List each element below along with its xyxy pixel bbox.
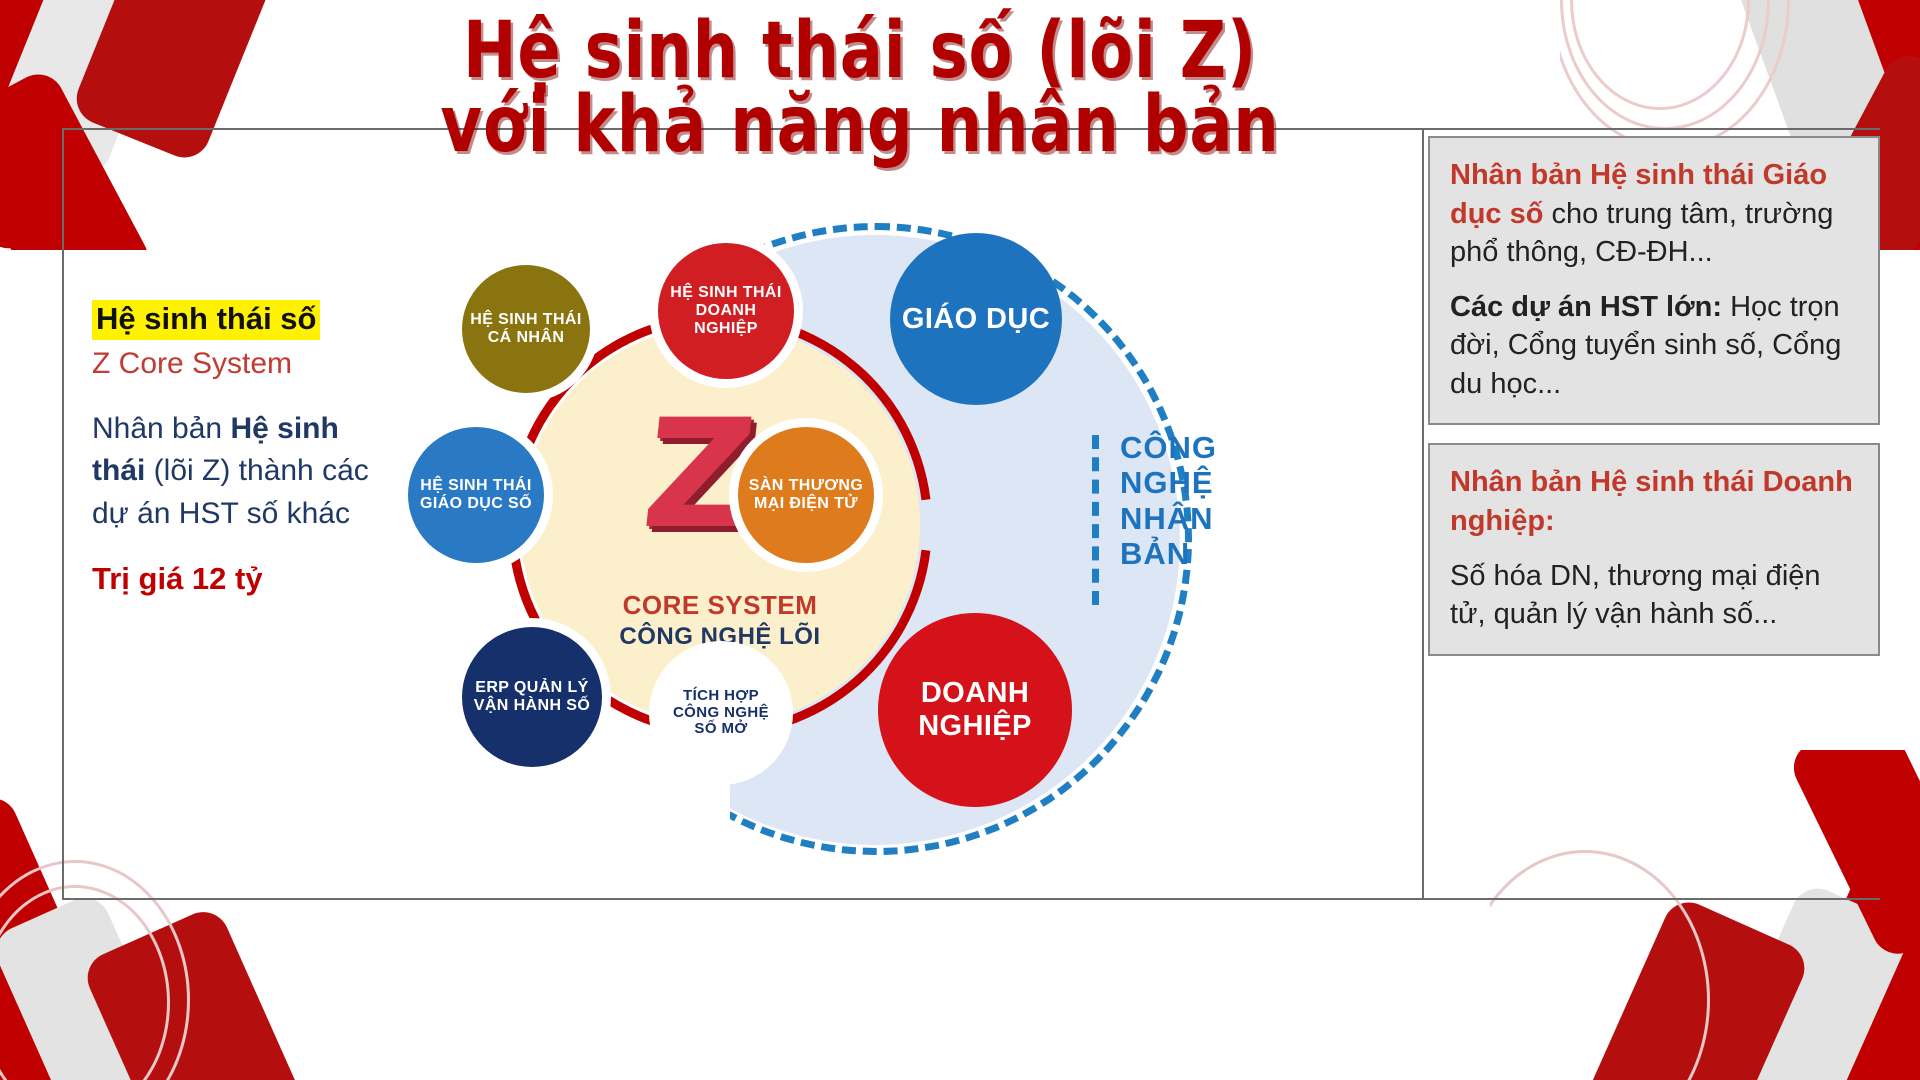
panel1-body: Các dự án HST lớn: Học trọn đời, Cổng tu… bbox=[1450, 288, 1858, 404]
decor-arc bbox=[0, 860, 190, 1080]
decor-bar-grey bbox=[1666, 880, 1914, 1080]
core-label-english: CORE SYSTEM bbox=[590, 590, 850, 621]
corner-decoration-bottom-right bbox=[1490, 750, 1920, 1080]
left-highlight-text: Hệ sinh thái số bbox=[92, 300, 320, 340]
decor-bar bbox=[1537, 894, 1812, 1080]
page-title: Hệ sinh thái số (lõi Z) với khả năng nhâ… bbox=[425, 14, 1294, 162]
node-label: SÀN THƯƠNG MẠI ĐIỆN TỬ bbox=[738, 477, 874, 513]
panel2-body: Số hóa DN, thương mại điện tử, quản lý v… bbox=[1450, 557, 1858, 634]
node-label: HỆ SINH THÁI DOANH NGHIỆP bbox=[658, 284, 794, 338]
left-subtitle: Z Core System bbox=[92, 346, 392, 382]
replication-dashed-line bbox=[1092, 435, 1099, 605]
title-line-2: với khả năng nhân bản bbox=[425, 88, 1294, 162]
frame-bottom-rule bbox=[62, 898, 1880, 900]
decor-arc bbox=[1560, 0, 1770, 130]
corner-decoration-bottom-left bbox=[0, 750, 330, 1080]
left-highlight-wrap: Hệ sinh thái số bbox=[92, 300, 392, 340]
decor-bar-grey bbox=[0, 0, 212, 182]
node-label: HỆ SINH THÁI GIÁO DỤC SỐ bbox=[408, 477, 544, 513]
node-he-sinh-thai-giao-duc-so[interactable]: HỆ SINH THÁI GIÁO DỤC SỐ bbox=[408, 427, 544, 563]
decor-arc bbox=[1490, 850, 1710, 1080]
left-body-paragraph: Nhân bản Hệ sinh thái (lõi Z) thành các … bbox=[92, 408, 392, 536]
node-doanh-nghiep[interactable]: DOANH NGHIỆP bbox=[878, 613, 1072, 807]
decor-bar bbox=[69, 0, 290, 165]
node-label: DOANH NGHIỆP bbox=[878, 677, 1072, 743]
node-giao-duc[interactable]: GIÁO DỤC bbox=[890, 233, 1062, 405]
node-label: ERP QUẢN LÝ VẬN HÀNH SỐ bbox=[462, 679, 602, 715]
decor-bar bbox=[1737, 779, 1920, 1080]
left-text-column: Hệ sinh thái số Z Core System Nhân bản H… bbox=[92, 300, 392, 597]
node-tich-hop-cong-nghe-so-mo[interactable]: TÍCH HỢP CÔNG NGHỆ SỐ MỞ bbox=[658, 650, 784, 776]
slide-canvas: Hệ sinh thái số (lõi Z) với khả năng nhâ… bbox=[0, 0, 1920, 1080]
frame-divider-rule bbox=[1422, 128, 1424, 898]
left-price-value: Trị giá 12 tỷ bbox=[92, 561, 392, 597]
node-san-thuong-mai-dien-tu[interactable]: SÀN THƯƠNG MẠI ĐIỆN TỬ bbox=[738, 427, 874, 563]
decor-bar bbox=[0, 0, 146, 250]
decor-bar-grey bbox=[0, 890, 232, 1080]
core-label-group: CORE SYSTEM CÔNG NGHỆ LÕI bbox=[590, 590, 850, 651]
decor-bar bbox=[1785, 750, 1920, 962]
panel2-heading: Nhân bản Hệ sinh thái Doanh nghiệp: bbox=[1450, 463, 1858, 540]
right-panel-business: Nhân bản Hệ sinh thái Doanh nghiệp: Số h… bbox=[1428, 443, 1880, 655]
node-label: HỆ SINH THÁI CÁ NHÂN bbox=[462, 311, 590, 347]
replication-label: CÔNG NGHỆ NHÂN BẢN bbox=[1120, 430, 1270, 571]
node-he-sinh-thai-ca-nhan[interactable]: HỆ SINH THÁI CÁ NHÂN bbox=[462, 265, 590, 393]
right-panel-education: Nhân bản Hệ sinh thái Giáo dục số cho tr… bbox=[1428, 136, 1880, 425]
core-label-vietnamese: CÔNG NGHỆ LÕI bbox=[590, 623, 850, 651]
decor-arc bbox=[0, 885, 170, 1080]
decor-bar bbox=[79, 904, 330, 1080]
node-label: GIÁO DỤC bbox=[897, 303, 1055, 336]
ecosystem-diagram: Z CORE SYSTEM CÔNG NGHỆ LÕI HỆ SINH THÁI… bbox=[420, 195, 1180, 885]
decor-arc bbox=[1570, 0, 1750, 110]
node-label: TÍCH HỢP CÔNG NGHỆ SỐ MỞ bbox=[658, 688, 784, 739]
frame-left-rule bbox=[62, 128, 64, 898]
decor-bar bbox=[0, 790, 159, 1080]
left-body-part1: Nhân bản bbox=[92, 412, 230, 445]
panel1-body-bold: Các dự án HST lớn: bbox=[1450, 291, 1722, 323]
node-he-sinh-thai-doanh-nghiep[interactable]: HỆ SINH THÁI DOANH NGHIỆP bbox=[658, 243, 794, 379]
decor-bar bbox=[0, 65, 157, 250]
panel1-heading: Nhân bản Hệ sinh thái Giáo dục số cho tr… bbox=[1450, 156, 1858, 272]
corner-decoration-top-left bbox=[0, 0, 290, 250]
right-info-column: Nhân bản Hệ sinh thái Giáo dục số cho tr… bbox=[1428, 136, 1880, 656]
node-erp-quan-ly-van-hanh-so[interactable]: ERP QUẢN LÝ VẬN HÀNH SỐ bbox=[462, 627, 602, 767]
